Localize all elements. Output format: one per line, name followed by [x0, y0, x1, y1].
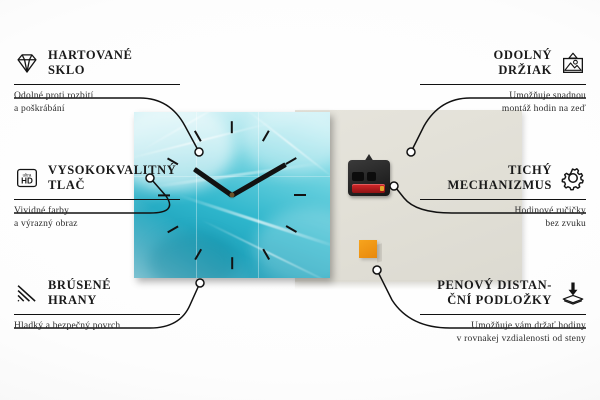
feature-high-quality-print: ultra HD VYSOKOKVALITNÝ TLAČ Vividné far…	[14, 163, 180, 231]
feature-description: Umožňuje vám držať hodiny v rovnakej vzd…	[420, 320, 586, 346]
feature-foam-spacers: PENOVÝ DISTAN- ČNÍ PODLOŽKY Umožňuje vám…	[420, 278, 586, 346]
feature-header: HARTOVANÉ SKLO	[14, 48, 180, 79]
divider	[14, 84, 180, 86]
feature-title: BRÚSENÉ HRANY	[48, 278, 111, 309]
picture-hanger-icon	[560, 50, 586, 76]
divider	[420, 199, 586, 201]
feature-header: TICHÝ MECHANIZMUS	[420, 163, 586, 194]
feature-description: Umožňuje snadnou montáž hodin na zeď	[420, 90, 586, 116]
feature-header: ODOLNÝ DRŽIAK	[420, 48, 586, 79]
diamond-icon	[14, 50, 40, 76]
divider	[14, 314, 180, 316]
feature-silent-mechanism: TICHÝ MECHANIZMUS Hodinové ručičky bez z…	[420, 163, 586, 231]
gear-icon	[560, 165, 586, 191]
feature-description: Odolné proti rozbití a poškrábání	[14, 90, 180, 116]
feature-durable-holder: ODOLNÝ DRŽIAK Umožňuje snadnou montáž ho…	[420, 48, 586, 116]
feature-tempered-glass: HARTOVANÉ SKLO Odolné proti rozbití a po…	[14, 48, 180, 116]
feature-ground-edges: BRÚSENÉ HRANY Hladký a bezpečný povrch	[14, 278, 180, 333]
feature-description: Hladký a bezpečný povrch	[14, 320, 180, 333]
feature-title: VYSOKOKVALITNÝ TLAČ	[48, 163, 176, 194]
feature-header: PENOVÝ DISTAN- ČNÍ PODLOŽKY	[420, 278, 586, 309]
feature-title: TICHÝ MECHANIZMUS	[420, 163, 552, 194]
foam-spacer-icon	[560, 280, 586, 306]
divider	[14, 199, 180, 201]
feature-header: ultra HD VYSOKOKVALITNÝ TLAČ	[14, 163, 180, 194]
ground-edges-icon	[14, 280, 40, 306]
infographic-canvas: HARTOVANÉ SKLO Odolné proti rozbití a po…	[0, 0, 600, 400]
feature-title: PENOVÝ DISTAN- ČNÍ PODLOŽKY	[420, 278, 552, 309]
divider	[420, 314, 586, 316]
feature-description: Hodinové ručičky bez zvuku	[420, 205, 586, 231]
feature-title: HARTOVANÉ SKLO	[48, 48, 132, 79]
feature-header: BRÚSENÉ HRANY	[14, 278, 180, 309]
svg-text:HD: HD	[21, 177, 33, 186]
feature-description: Vividné farby a výrazný obraz	[14, 205, 180, 231]
divider	[420, 84, 586, 86]
ultra-hd-icon: ultra HD	[14, 165, 40, 191]
feature-title: ODOLNÝ DRŽIAK	[420, 48, 552, 79]
